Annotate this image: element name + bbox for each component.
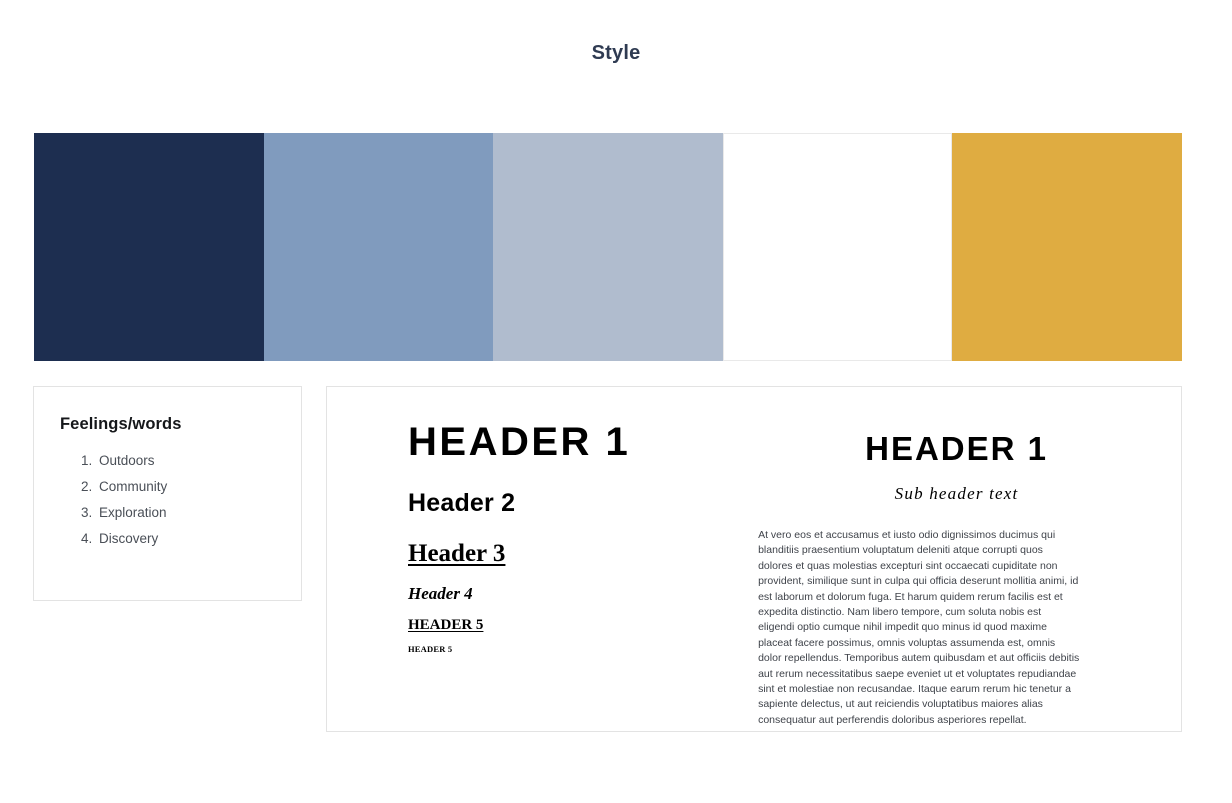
feelings-words-title: Feelings/words: [60, 415, 301, 434]
color-palette-strip: [34, 133, 1182, 361]
typography-panel: HEADER 1 Header 2 Header 3 Header 4 HEAD…: [326, 386, 1182, 732]
list-item: Outdoors: [96, 448, 301, 474]
typography-specimen-column: HEADER 1 Sub header text At vero eos et …: [746, 421, 1181, 731]
color-swatch-navy: [34, 133, 264, 361]
color-swatch-slate-blue: [264, 133, 494, 361]
list-item: Discovery: [96, 526, 301, 552]
color-swatch-gold: [952, 133, 1182, 361]
typography-scale-column: HEADER 1 Header 2 Header 3 Header 4 HEAD…: [327, 421, 746, 731]
color-swatch-light-blue: [493, 133, 723, 361]
list-item: Exploration: [96, 500, 301, 526]
specimen-body-text: At vero eos et accusamus et iusto odio d…: [758, 528, 1080, 728]
sample-header-2: Header 2: [408, 489, 746, 518]
sample-header-5-small: HEADER 5: [408, 644, 746, 654]
specimen-subheader: Sub header text: [752, 484, 1161, 504]
sample-header-5: HEADER 5: [408, 617, 746, 634]
page-title: Style: [0, 42, 1232, 65]
color-swatch-white: [723, 133, 953, 361]
sample-header-3: Header 3: [408, 540, 746, 568]
feelings-words-card: Feelings/words Outdoors Community Explor…: [33, 386, 302, 601]
sample-header-4: Header 4: [408, 584, 746, 604]
list-item: Community: [96, 474, 301, 500]
feelings-words-list: Outdoors Community Exploration Discovery: [34, 448, 301, 552]
specimen-header-1: HEADER 1: [752, 430, 1161, 468]
sample-header-1: HEADER 1: [408, 421, 746, 463]
